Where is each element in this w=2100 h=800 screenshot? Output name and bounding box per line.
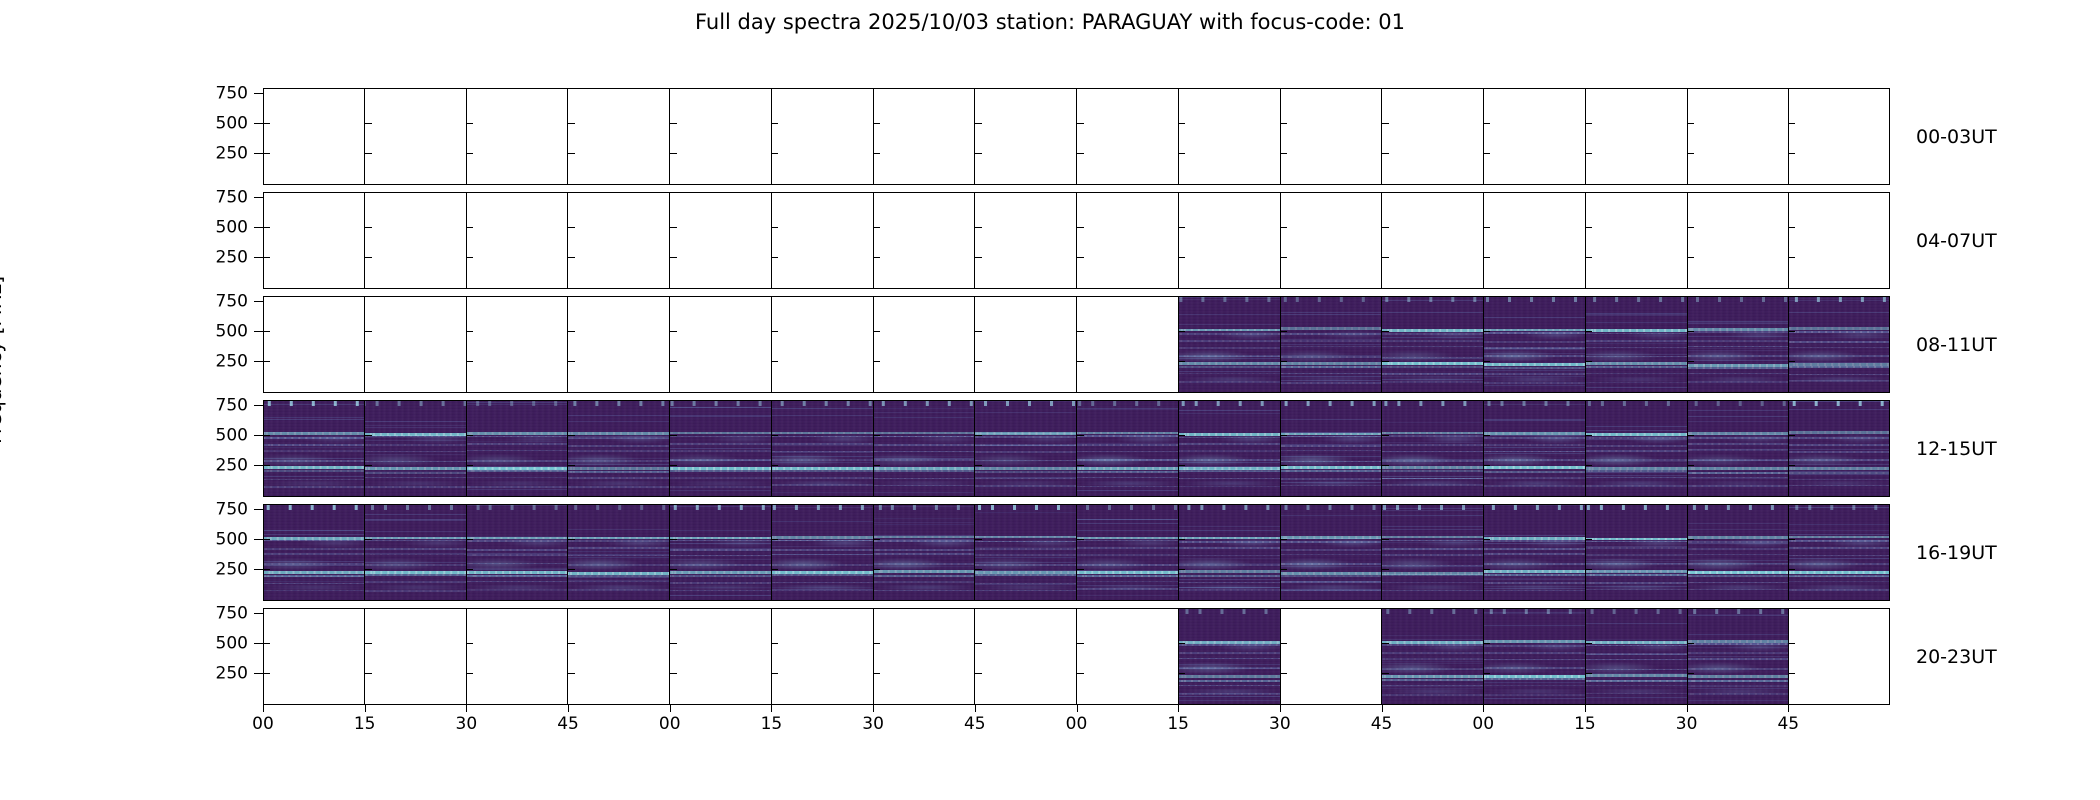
y-subtick-mark — [873, 257, 880, 258]
row-panels — [263, 400, 1890, 497]
spectra-panel-empty — [1484, 88, 1586, 185]
y-tick-mark: 750 — [254, 301, 263, 302]
y-subtick-mark — [873, 569, 880, 570]
y-subtick-mark — [1585, 569, 1592, 570]
spectrogram-texture — [1382, 400, 1483, 497]
y-subtick-mark — [466, 673, 473, 674]
spectra-panel-filled — [1789, 504, 1890, 601]
spectrogram-texture — [1586, 296, 1687, 393]
spectra-panel-empty — [772, 88, 874, 185]
y-subtick-mark — [873, 331, 880, 332]
y-subtick-mark — [365, 465, 372, 466]
spectra-panel-empty — [365, 192, 467, 289]
y-subtick-mark — [1788, 123, 1795, 124]
y-subtick-mark — [1687, 465, 1694, 466]
x-tick-mark — [365, 705, 366, 712]
y-tick-mark: 250 — [254, 465, 263, 466]
y-subtick-mark — [873, 673, 880, 674]
spectrogram-texture — [1688, 608, 1789, 705]
spectrogram-texture — [467, 504, 568, 601]
y-subtick-mark — [263, 123, 270, 124]
y-subtick-mark — [1280, 257, 1287, 258]
spectra-panel-empty — [467, 88, 569, 185]
y-subtick-mark — [263, 465, 270, 466]
y-tick-label: 750 — [216, 190, 248, 207]
x-tick-label: 00 — [1472, 715, 1494, 734]
spectra-panel-filled — [1688, 608, 1790, 705]
y-subtick-mark — [1788, 435, 1795, 436]
spectrogram-texture — [1077, 400, 1178, 497]
x-tick-label: 30 — [456, 715, 478, 734]
spectra-panel-empty — [772, 296, 874, 393]
y-subtick-mark — [771, 465, 778, 466]
spectra-panel-empty — [670, 296, 772, 393]
spectrogram-texture — [467, 400, 568, 497]
y-tick-label: 250 — [216, 145, 248, 162]
x-tick-mark — [1077, 705, 1078, 712]
spectra-panel-empty — [1586, 192, 1688, 289]
y-tick-label: 500 — [216, 219, 248, 236]
y-subtick-mark — [1178, 153, 1185, 154]
y-subtick-mark — [1077, 361, 1084, 362]
spectra-panel-filled — [1179, 504, 1281, 601]
y-subtick-mark — [771, 361, 778, 362]
y-subtick-mark — [1483, 569, 1490, 570]
y-subtick-mark — [670, 569, 677, 570]
y-tick-label: 500 — [216, 531, 248, 548]
spectra-panel-empty — [365, 88, 467, 185]
y-subtick-mark — [1585, 643, 1592, 644]
y-subtick-mark — [1280, 569, 1287, 570]
spectra-panel-filled — [1281, 504, 1383, 601]
row-panels — [263, 192, 1890, 289]
y-subtick-mark — [1178, 465, 1185, 466]
x-tick-label: 45 — [557, 715, 579, 734]
y-subtick-mark — [1788, 227, 1795, 228]
x-tick-mark — [1382, 705, 1383, 712]
x-tick-label: 45 — [964, 715, 986, 734]
y-subtick-mark — [1178, 227, 1185, 228]
y-axis-label: Frequency [MHz] — [0, 40, 10, 680]
x-tick-label: 30 — [1269, 715, 1291, 734]
spectra-panel-empty — [1688, 192, 1790, 289]
x-tick-mark — [873, 705, 874, 712]
y-subtick-mark — [771, 153, 778, 154]
y-subtick-mark — [1382, 227, 1389, 228]
spectra-panel-filled — [1382, 504, 1484, 601]
x-tick-label: 00 — [1066, 715, 1088, 734]
y-subtick-mark — [975, 465, 982, 466]
y-subtick-mark — [263, 673, 270, 674]
y-subtick-mark — [1788, 361, 1795, 362]
y-subtick-mark — [771, 539, 778, 540]
y-subtick-mark — [1788, 643, 1795, 644]
y-subtick-mark — [1585, 257, 1592, 258]
y-subtick-mark — [1280, 673, 1287, 674]
y-subtick-mark — [670, 153, 677, 154]
y-subtick-mark — [466, 153, 473, 154]
y-subtick-mark — [1382, 569, 1389, 570]
y-subtick-mark — [670, 539, 677, 540]
spectra-panel-filled — [772, 504, 874, 601]
x-tick-label: 30 — [1676, 715, 1698, 734]
y-subtick-mark — [873, 123, 880, 124]
spectrogram-texture — [1179, 400, 1280, 497]
y-subtick-mark — [1687, 153, 1694, 154]
spectrogram-texture — [365, 504, 466, 601]
y-subtick-mark — [1077, 465, 1084, 466]
spectra-panel-filled — [1688, 400, 1790, 497]
spectra-panel-filled — [1688, 504, 1790, 601]
page-title: Full day spectra 2025/10/03 station: PAR… — [0, 8, 2100, 36]
spectra-panel-empty — [1789, 192, 1890, 289]
y-subtick-mark — [263, 643, 270, 644]
x-tick-mark — [975, 705, 976, 712]
y-tick-label: 250 — [216, 457, 248, 474]
y-subtick-mark — [466, 123, 473, 124]
spectra-panel-empty — [1179, 88, 1281, 185]
spectrogram-texture — [874, 400, 975, 497]
y-subtick-mark — [1585, 539, 1592, 540]
spectra-panel-filled — [975, 504, 1077, 601]
spectrogram-texture — [1382, 504, 1483, 601]
y-subtick-mark — [1280, 465, 1287, 466]
y-subtick-mark — [365, 569, 372, 570]
y-subtick-mark — [1788, 673, 1795, 674]
y-subtick-mark — [365, 153, 372, 154]
y-subtick-mark — [263, 361, 270, 362]
spectra-panel-filled — [1077, 504, 1179, 601]
spectra-panel-empty — [263, 88, 365, 185]
spectra-panel-empty — [1382, 192, 1484, 289]
y-subtick-mark — [1483, 123, 1490, 124]
spectra-panel-empty — [263, 608, 365, 705]
spectrogram-texture — [1586, 504, 1687, 601]
y-subtick-mark — [568, 435, 575, 436]
y-subtick-mark — [365, 673, 372, 674]
y-tick-label: 250 — [216, 249, 248, 266]
y-subtick-mark — [1585, 153, 1592, 154]
y-subtick-mark — [771, 569, 778, 570]
y-subtick-mark — [263, 227, 270, 228]
x-tick-label: 15 — [1167, 715, 1189, 734]
spectra-panel-filled — [874, 504, 976, 601]
y-subtick-mark — [975, 227, 982, 228]
y-subtick-mark — [1382, 643, 1389, 644]
spectra-panel-filled — [1382, 296, 1484, 393]
y-subtick-mark — [670, 227, 677, 228]
y-subtick-mark — [975, 539, 982, 540]
y-subtick-mark — [365, 257, 372, 258]
y-subtick-mark — [365, 435, 372, 436]
y-tick-label: 750 — [216, 502, 248, 519]
y-tick-mark: 250 — [254, 153, 263, 154]
x-tick-mark — [466, 705, 467, 712]
x-tick-mark — [1687, 705, 1688, 712]
y-subtick-mark — [771, 331, 778, 332]
spectra-panel-empty — [874, 192, 976, 289]
spectra-row-16-19ut: 750500250 — [263, 504, 1890, 601]
y-subtick-mark — [1687, 227, 1694, 228]
y-tick-label: 750 — [216, 606, 248, 623]
y-tick-mark: 500 — [254, 227, 263, 228]
spectra-panel-empty — [874, 296, 976, 393]
y-subtick-mark — [670, 123, 677, 124]
y-subtick-mark — [466, 257, 473, 258]
y-subtick-mark — [670, 643, 677, 644]
spectra-panel-filled — [1179, 608, 1281, 705]
spectrogram-texture — [1586, 608, 1687, 705]
y-subtick-mark — [466, 435, 473, 436]
y-subtick-mark — [466, 465, 473, 466]
y-tick-label: 750 — [216, 294, 248, 311]
y-subtick-mark — [365, 361, 372, 362]
y-tick-mark: 500 — [254, 643, 263, 644]
y-tick-label: 500 — [216, 427, 248, 444]
y-subtick-mark — [1280, 361, 1287, 362]
spectra-panel-empty — [772, 192, 874, 289]
y-subtick-mark — [568, 123, 575, 124]
y-tick-mark: 250 — [254, 257, 263, 258]
y-subtick-mark — [263, 153, 270, 154]
y-subtick-mark — [1585, 123, 1592, 124]
spectra-panel-empty — [1281, 608, 1383, 705]
y-subtick-mark — [975, 435, 982, 436]
spectra-panel-filled — [1179, 296, 1281, 393]
y-subtick-mark — [1483, 257, 1490, 258]
y-subtick-mark — [1077, 539, 1084, 540]
y-subtick-mark — [1178, 257, 1185, 258]
y-subtick-mark — [1788, 153, 1795, 154]
spectra-panel-filled — [1179, 400, 1281, 497]
y-subtick-mark — [670, 257, 677, 258]
y-subtick-mark — [771, 123, 778, 124]
spectra-panel-filled — [975, 400, 1077, 497]
y-subtick-mark — [1382, 361, 1389, 362]
y-subtick-mark — [1483, 361, 1490, 362]
x-tick-mark — [771, 705, 772, 712]
spectrogram-texture — [263, 400, 364, 497]
y-subtick-mark — [1178, 643, 1185, 644]
y-subtick-mark — [771, 435, 778, 436]
y-tick-label: 250 — [216, 665, 248, 682]
y-subtick-mark — [1585, 361, 1592, 362]
y-tick-mark: 750 — [254, 405, 263, 406]
y-subtick-mark — [771, 673, 778, 674]
x-tick-label: 15 — [1574, 715, 1596, 734]
spectrogram-texture — [1382, 296, 1483, 393]
y-subtick-mark — [1483, 643, 1490, 644]
y-subtick-mark — [670, 331, 677, 332]
spectrogram-texture — [1382, 608, 1483, 705]
y-subtick-mark — [1788, 539, 1795, 540]
y-subtick-mark — [568, 539, 575, 540]
spectra-panel-empty — [874, 608, 976, 705]
y-subtick-mark — [873, 361, 880, 362]
y-subtick-mark — [1077, 257, 1084, 258]
row-label-04-07ut: 04-07UT — [1916, 230, 1997, 252]
y-tick-mark: 750 — [254, 197, 263, 198]
spectra-panel-empty — [1077, 608, 1179, 705]
y-tick-mark: 750 — [254, 93, 263, 94]
spectrogram-texture — [975, 400, 1076, 497]
y-tick-mark: 500 — [254, 123, 263, 124]
spectra-panel-empty — [670, 608, 772, 705]
spectra-panel-empty — [1281, 192, 1383, 289]
spectra-panel-empty — [263, 192, 365, 289]
y-subtick-mark — [1483, 435, 1490, 436]
y-subtick-mark — [1077, 227, 1084, 228]
spectra-panel-empty — [365, 608, 467, 705]
x-tick-mark — [1178, 705, 1179, 712]
spectra-panel-empty — [1586, 88, 1688, 185]
spectra-panel-empty — [1484, 192, 1586, 289]
y-subtick-mark — [1280, 153, 1287, 154]
spectra-panel-empty — [467, 296, 569, 393]
y-subtick-mark — [466, 569, 473, 570]
y-subtick-mark — [1687, 435, 1694, 436]
x-tick-mark — [263, 705, 264, 712]
spectra-panel-filled — [670, 504, 772, 601]
y-subtick-mark — [466, 539, 473, 540]
y-subtick-mark — [1382, 123, 1389, 124]
y-subtick-mark — [365, 539, 372, 540]
y-tick-label: 750 — [216, 398, 248, 415]
spectra-panel-filled — [1484, 400, 1586, 497]
y-tick-label: 250 — [216, 353, 248, 370]
spectrogram-texture — [1281, 504, 1382, 601]
spectra-panel-filled — [1484, 296, 1586, 393]
y-tick-mark: 500 — [254, 539, 263, 540]
y-subtick-mark — [771, 227, 778, 228]
spectra-panel-filled — [772, 400, 874, 497]
y-subtick-mark — [975, 257, 982, 258]
y-subtick-mark — [670, 673, 677, 674]
x-tick-label: 30 — [862, 715, 884, 734]
spectrogram-texture — [1688, 296, 1789, 393]
y-subtick-mark — [568, 673, 575, 674]
y-subtick-mark — [1687, 569, 1694, 570]
y-subtick-mark — [1687, 331, 1694, 332]
row-panels — [263, 88, 1890, 185]
row-panels — [263, 504, 1890, 601]
y-subtick-mark — [568, 361, 575, 362]
spectra-panel-filled — [467, 504, 569, 601]
spectra-panel-empty — [1179, 192, 1281, 289]
spectra-panel-empty — [467, 192, 569, 289]
y-subtick-mark — [466, 643, 473, 644]
y-tick-label: 750 — [216, 86, 248, 103]
spectrogram-texture — [1179, 296, 1280, 393]
y-subtick-mark — [1077, 435, 1084, 436]
x-tick-label: 15 — [354, 715, 376, 734]
y-subtick-mark — [365, 123, 372, 124]
spectra-panel-empty — [670, 88, 772, 185]
x-tick-label: 45 — [1371, 715, 1393, 734]
spectra-panel-empty — [1789, 608, 1890, 705]
y-subtick-mark — [1280, 331, 1287, 332]
y-subtick-mark — [975, 153, 982, 154]
y-subtick-mark — [1585, 435, 1592, 436]
y-subtick-mark — [873, 153, 880, 154]
spectra-panel-filled — [1789, 400, 1890, 497]
spectra-panel-empty — [772, 608, 874, 705]
y-subtick-mark — [1280, 539, 1287, 540]
y-subtick-mark — [1382, 257, 1389, 258]
y-subtick-mark — [1178, 361, 1185, 362]
y-subtick-mark — [1382, 435, 1389, 436]
y-subtick-mark — [568, 153, 575, 154]
x-tick-label: 00 — [659, 715, 681, 734]
spectrogram-texture — [1179, 608, 1280, 705]
spectra-row-00-03ut: 750500250 — [263, 88, 1890, 185]
spectrogram-texture — [1077, 504, 1178, 601]
y-tick-label: 250 — [216, 561, 248, 578]
spectra-panel-filled — [1484, 608, 1586, 705]
spectra-panel-filled — [365, 504, 467, 601]
spectrogram-texture — [1789, 296, 1890, 393]
y-tick-mark: 500 — [254, 435, 263, 436]
y-subtick-mark — [1483, 227, 1490, 228]
y-subtick-mark — [975, 123, 982, 124]
x-tick-mark — [1483, 705, 1484, 712]
x-tick-label: 45 — [1777, 715, 1799, 734]
spectra-panel-filled — [467, 400, 569, 497]
y-subtick-mark — [568, 465, 575, 466]
spectra-panel-filled — [568, 400, 670, 497]
y-subtick-mark — [771, 643, 778, 644]
spectra-panel-filled — [1382, 608, 1484, 705]
spectrogram-texture — [1688, 504, 1789, 601]
y-subtick-mark — [1382, 465, 1389, 466]
spectra-panel-filled — [1382, 400, 1484, 497]
y-subtick-mark — [873, 643, 880, 644]
y-subtick-mark — [1382, 153, 1389, 154]
y-subtick-mark — [1483, 539, 1490, 540]
y-subtick-mark — [1788, 569, 1795, 570]
y-subtick-mark — [568, 227, 575, 228]
spectra-panel-filled — [568, 504, 670, 601]
y-subtick-mark — [263, 435, 270, 436]
spectra-panel-empty — [1077, 88, 1179, 185]
y-subtick-mark — [975, 673, 982, 674]
spectrogram-texture — [1789, 504, 1890, 601]
y-subtick-mark — [1687, 123, 1694, 124]
spectrogram-texture — [670, 400, 771, 497]
spectra-panel-filled — [670, 400, 772, 497]
x-tick-mark — [1585, 705, 1586, 712]
spectra-figure: Full day spectra 2025/10/03 station: PAR… — [0, 0, 2100, 800]
spectrogram-texture — [1789, 400, 1890, 497]
spectra-panel-filled — [1281, 400, 1383, 497]
x-tick-mark — [568, 705, 569, 712]
spectrogram-texture — [1484, 296, 1585, 393]
y-subtick-mark — [263, 569, 270, 570]
spectra-panel-empty — [1077, 192, 1179, 289]
y-subtick-mark — [263, 539, 270, 540]
y-subtick-mark — [568, 569, 575, 570]
y-subtick-mark — [1178, 673, 1185, 674]
y-subtick-mark — [1280, 435, 1287, 436]
spectrogram-texture — [874, 504, 975, 601]
x-tick-label: 00 — [252, 715, 274, 734]
row-label-00-03ut: 00-03UT — [1916, 126, 1997, 148]
y-tick-mark: 250 — [254, 673, 263, 674]
spectra-panel-empty — [1077, 296, 1179, 393]
y-tick-mark: 750 — [254, 613, 263, 614]
spectra-panel-empty — [568, 296, 670, 393]
spectra-panel-empty — [1688, 88, 1790, 185]
